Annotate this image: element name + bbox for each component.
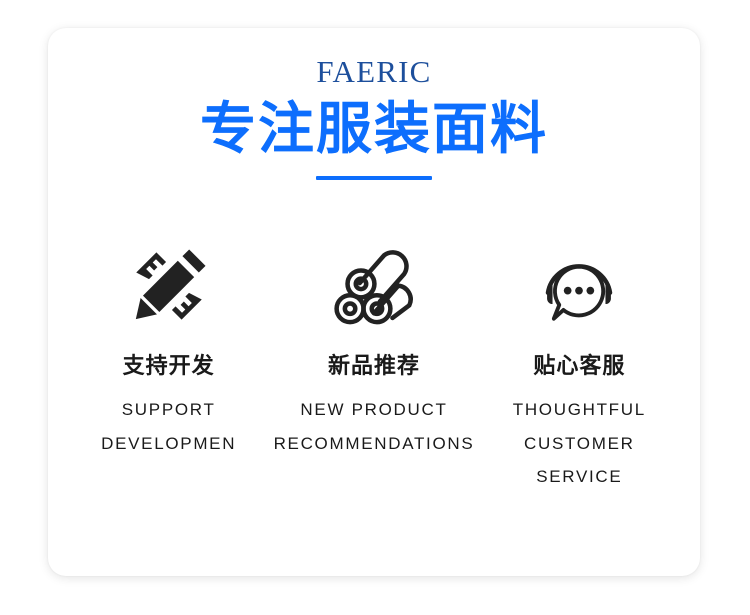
feature-subtitle-line: RECOMMENDATIONS xyxy=(274,427,475,460)
banner-header: FAERIC 专注服装面料 xyxy=(48,28,700,180)
promo-banner: FAERIC 专注服装面料 xyxy=(0,0,750,615)
feature-subtitle-line: SERVICE xyxy=(513,460,646,493)
header-divider xyxy=(316,176,432,180)
feature-item-support-development: 支持开发 SUPPORT DEVELOPMEN xyxy=(66,240,271,460)
headset-chat-icon xyxy=(533,240,625,332)
feature-subtitle-line: CUSTOMER xyxy=(513,427,646,460)
feature-item-customer-service: 贴心客服 THOUGHTFUL CUSTOMER SERVICE xyxy=(477,240,682,493)
pencil-ruler-icon xyxy=(123,240,215,332)
feature-subtitle-line: SUPPORT xyxy=(101,393,236,426)
feature-subtitle-line: THOUGHTFUL xyxy=(513,393,646,426)
feature-title: 新品推荐 xyxy=(328,332,420,380)
feature-subtitle: SUPPORT DEVELOPMEN xyxy=(101,380,236,459)
feature-subtitle-line: DEVELOPMEN xyxy=(101,427,236,460)
headline-title: 专注服装面料 xyxy=(48,87,700,162)
feature-subtitle-line: NEW PRODUCT xyxy=(274,393,475,426)
feature-item-new-product: 新品推荐 NEW PRODUCT RECOMMENDATIONS xyxy=(271,240,476,460)
feature-subtitle: NEW PRODUCT RECOMMENDATIONS xyxy=(274,380,475,459)
brand-name: FAERIC xyxy=(48,28,700,87)
fabric-rolls-icon xyxy=(328,240,420,332)
feature-title: 贴心客服 xyxy=(533,332,625,380)
feature-subtitle: THOUGHTFUL CUSTOMER SERVICE xyxy=(513,380,646,492)
divider-container xyxy=(48,162,700,180)
feature-title: 支持开发 xyxy=(123,332,215,380)
feature-list: 支持开发 SUPPORT DEVELOPMEN xyxy=(48,240,700,493)
banner-card: FAERIC 专注服装面料 xyxy=(48,28,700,576)
